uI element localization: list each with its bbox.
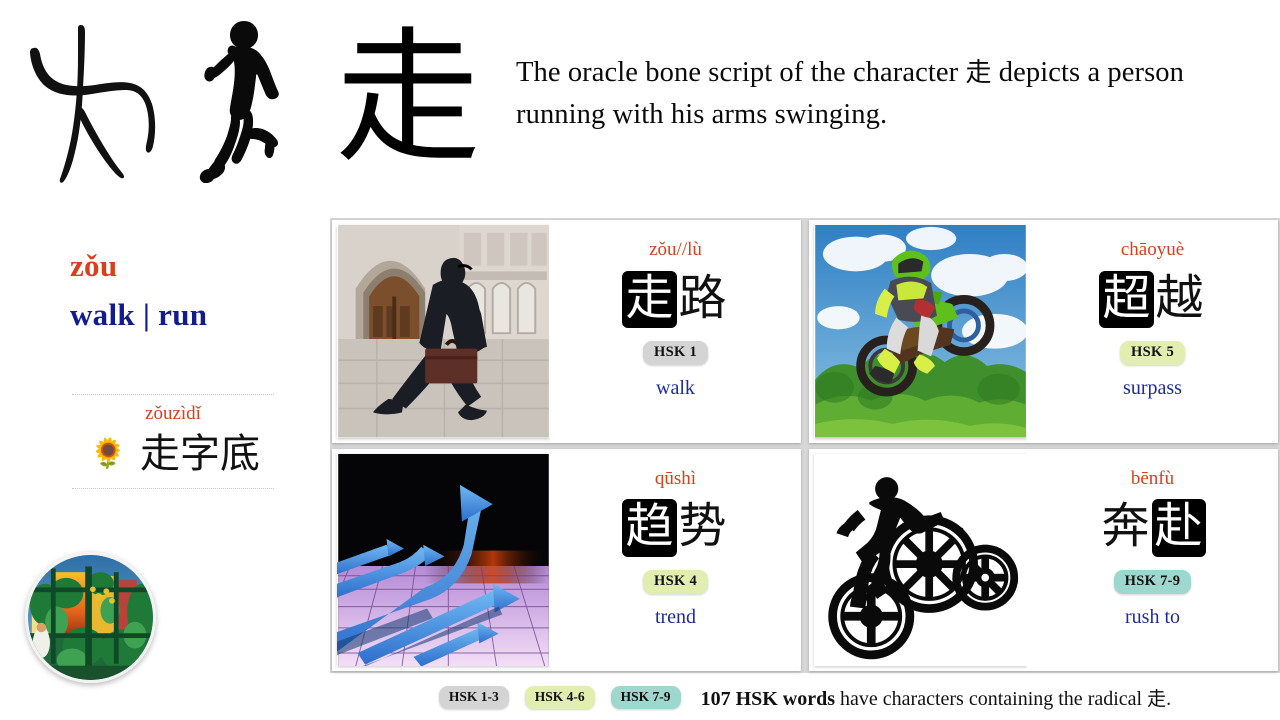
footer-radical: 走 [1147,688,1166,710]
footer-summary: 107 HSK words have characters containing… [701,684,1172,711]
header-description: The oracle bone script of the character … [516,52,1256,136]
hsk-badge: HSK 7-9 [1114,570,1192,594]
man-walking-with-briefcase-photo[interactable] [332,220,550,443]
card-pinyin: zǒu//lù [649,240,702,261]
card-word: 走路 [622,271,728,328]
card-gloss: surpass [1123,377,1182,400]
word-card-body: chāoyuè 超越 HSK 5 surpass [1027,220,1278,443]
card-char-plain: 奔 [1099,499,1151,556]
card-char-highlighted: 走 [622,271,676,328]
card-gloss: trend [655,606,696,629]
hsk-badge: HSK 4 [643,570,708,594]
sunflower-icon: 🌻 [90,440,126,469]
card-char-highlighted: 赴 [1152,499,1206,556]
divider-bottom [72,488,274,489]
card-word: 趋势 [622,499,728,556]
hsk-badge: HSK 1 [643,341,708,365]
header-description-before: The oracle bone script of the character [516,57,965,88]
word-card[interactable]: bēnfù 奔赴 HSK 7-9 rush to [809,449,1278,672]
card-word: 奔赴 [1099,499,1205,556]
left-panel: zǒu walk | run zǒuzìdǐ 🌻 走字底 [0,200,330,720]
motocross-rider-jumping-photo[interactable] [809,220,1027,443]
running-person-silhouette-icon [178,13,308,183]
conservatory-painting-logo[interactable] [25,552,156,683]
headword-meaning: walk | run [70,297,207,333]
card-char-plain: 势 [677,499,729,556]
word-card-grid: zǒu//lù 走路 HSK 1 walk [330,218,1280,673]
header: 走 The oracle bone script of the characte… [0,0,1280,200]
glyph-evolution-row: 走 [18,8,498,188]
card-char-highlighted: 趋 [622,499,676,556]
word-card[interactable]: qūshì 趋势 HSK 4 trend [332,449,801,672]
word-card[interactable]: zǒu//lù 走路 HSK 1 walk [332,220,801,443]
footer-period: . [1166,688,1171,710]
word-card-body: qūshì 趋势 HSK 4 trend [550,449,801,672]
card-gloss: rush to [1125,606,1180,629]
footer-count: 107 HSK words [701,688,835,710]
card-char-highlighted: 超 [1099,271,1153,328]
word-card-body: bēnfù 奔赴 HSK 7-9 rush to [1027,449,1278,672]
card-gloss: walk [656,377,695,400]
radical-name: 走字底 [140,432,260,476]
card-pinyin: chāoyuè [1121,240,1184,261]
card-char-plain: 路 [677,271,729,328]
radical-row: 🌻 走字底 [50,432,300,476]
legend-badge-hsk-1-3: HSK 1-3 [439,686,509,709]
footer: HSK 1-3 HSK 4-6 HSK 7-9 107 HSK words ha… [330,675,1280,720]
word-card[interactable]: chāoyuè 超越 HSK 5 surpass [809,220,1278,443]
card-pinyin: qūshì [655,469,696,490]
card-char-plain: 越 [1154,271,1206,328]
legend-badge-hsk-7-9: HSK 7-9 [611,686,681,709]
blue-arrows-rising-trend-graphic[interactable] [332,449,550,672]
card-word: 超越 [1099,271,1205,328]
radical-pinyin: zǒuzìdǐ [72,403,274,425]
runner-on-gears-silhouette[interactable] [809,449,1027,672]
divider-top [72,394,274,395]
oracle-bone-script-zou-icon [18,13,168,183]
word-card-body: zǒu//lù 走路 HSK 1 walk [550,220,801,443]
legend-badge-hsk-4-6: HSK 4-6 [525,686,595,709]
modern-character-zou: 走 [318,13,498,183]
header-description-character: 走 [965,58,991,88]
headword-pinyin: zǒu [70,248,117,284]
slide-root: 走 The oracle bone script of the characte… [0,0,1280,720]
hsk-badge: HSK 5 [1120,341,1185,365]
footer-rest: have characters containing the radical [835,688,1147,710]
card-pinyin: bēnfù [1131,469,1174,490]
hsk-legend: HSK 1-3 HSK 4-6 HSK 7-9 [439,686,681,709]
